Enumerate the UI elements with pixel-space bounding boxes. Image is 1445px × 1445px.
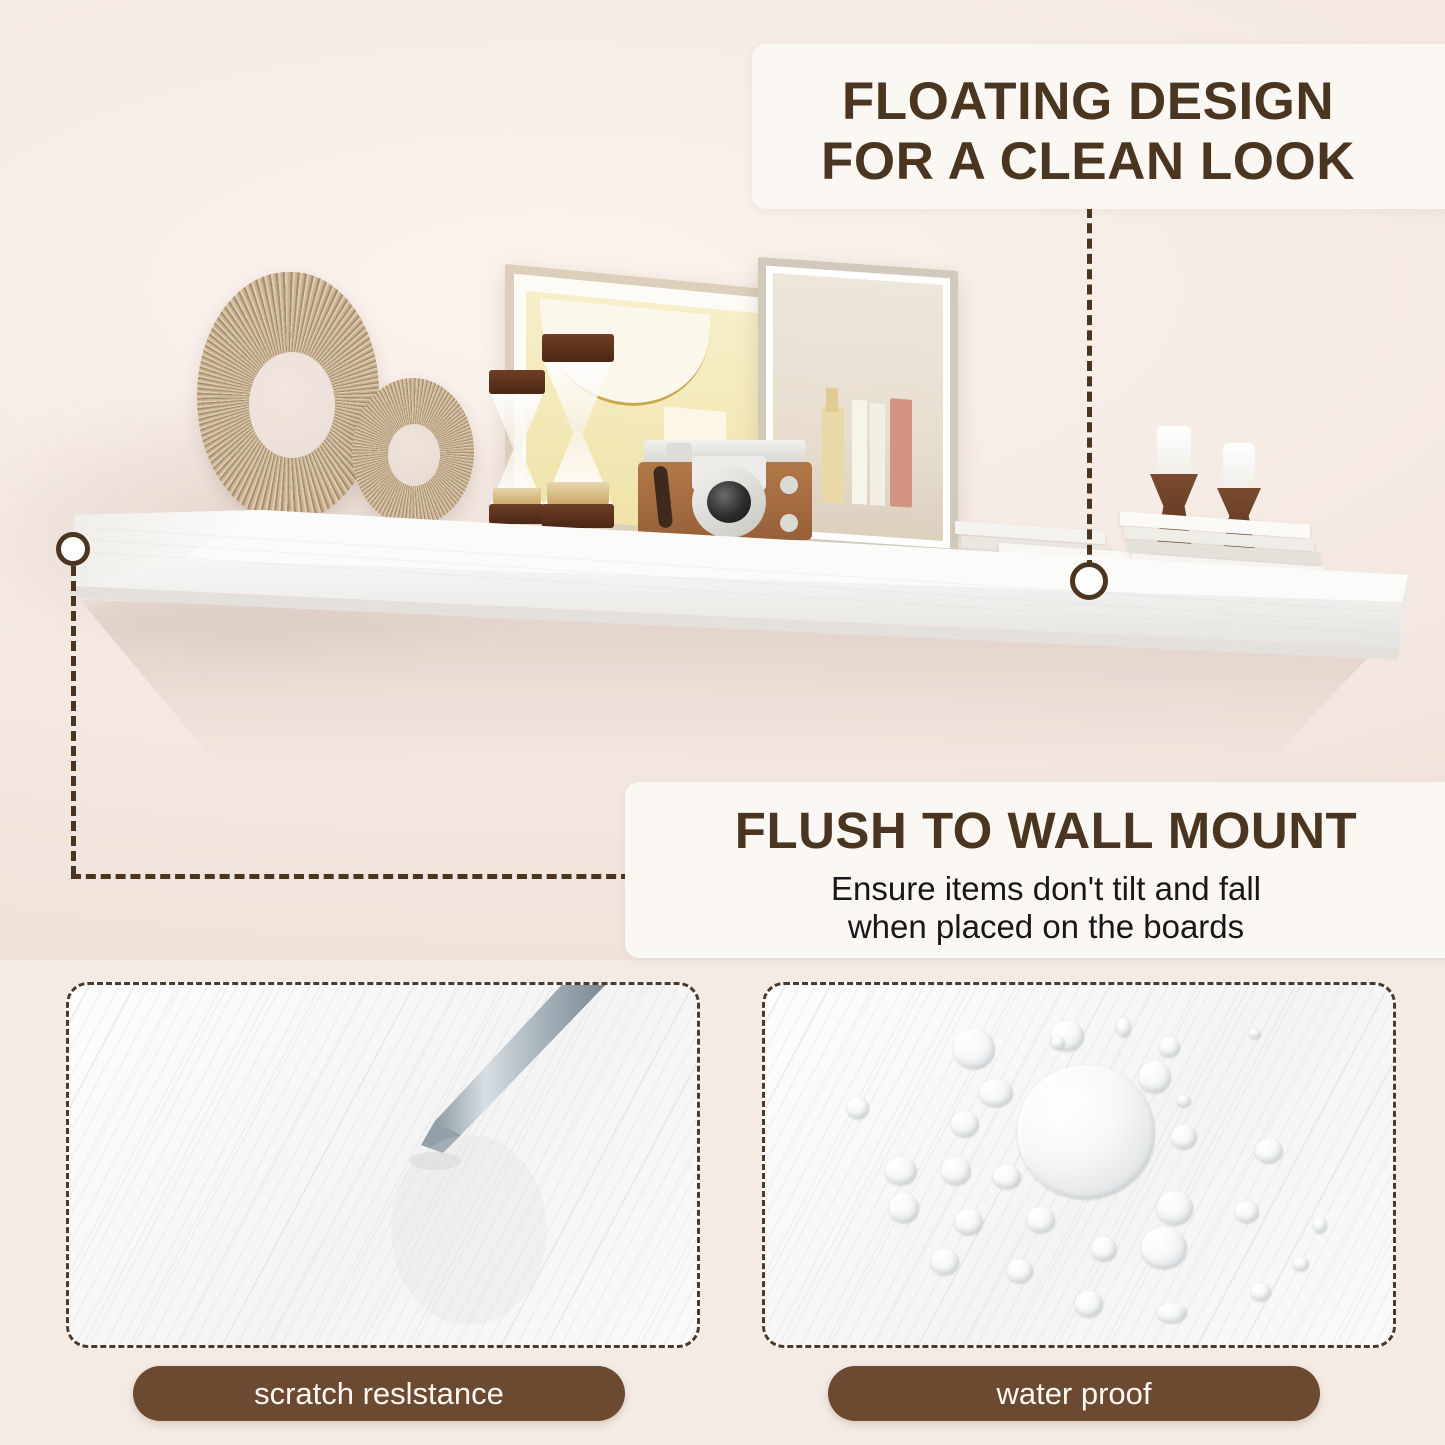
panel-water-proof	[762, 982, 1396, 1348]
water-droplet	[931, 1249, 959, 1275]
water-droplet	[941, 1157, 971, 1185]
water-droplet	[1251, 1283, 1271, 1301]
water-droplet	[889, 1193, 919, 1223]
callout-floating-design: FLOATING DESIGN FOR A CLEAN LOOK	[752, 44, 1445, 209]
water-droplet	[1091, 1237, 1117, 1261]
pill-scratch-resistance[interactable]: scratch reslstance	[133, 1366, 625, 1421]
leader-line-horizontal	[71, 874, 631, 879]
water-droplet	[1235, 1201, 1259, 1223]
water-droplet	[1075, 1291, 1103, 1317]
water-droplet	[1293, 1257, 1309, 1271]
water-droplet	[993, 1165, 1021, 1189]
leader-line-vertical-left	[71, 566, 76, 876]
water-droplet	[1139, 1061, 1171, 1093]
water-droplet	[1177, 1095, 1191, 1107]
pill-scratch-label: scratch reslstance	[254, 1376, 504, 1412]
water-droplet	[979, 1079, 1013, 1107]
pill-waterproof-label: water proof	[996, 1376, 1151, 1412]
water-droplet	[1141, 1227, 1187, 1269]
water-droplet	[1027, 1207, 1055, 1233]
screwdriver-icon	[69, 985, 697, 1345]
callout-flush-mount-title: FLUSH TO WALL MOUNT	[665, 804, 1427, 858]
water-droplet	[1157, 1303, 1187, 1323]
scratch-smudge	[391, 1135, 547, 1325]
water-droplet	[1171, 1125, 1197, 1149]
water-droplet-main	[1017, 1065, 1155, 1199]
marker-shelf-wall-joint	[1070, 562, 1108, 600]
waterproof-surface	[765, 985, 1393, 1345]
callout-flush-mount: FLUSH TO WALL MOUNT Ensure items don't t…	[625, 782, 1445, 958]
water-droplet	[953, 1029, 995, 1069]
water-droplet	[1249, 1029, 1261, 1039]
callout-floating-design-title-line1: FLOATING DESIGN	[752, 74, 1424, 130]
leader-line-vertical-top	[1087, 208, 1092, 570]
water-droplet	[955, 1209, 983, 1235]
water-droplet	[1051, 1037, 1065, 1049]
water-droplet	[1117, 1017, 1131, 1037]
water-droplet	[1255, 1139, 1283, 1163]
infographic-root: FLOATING DESIGN FOR A CLEAN LOOK FLUSH T…	[0, 0, 1445, 1445]
scratch-surface	[69, 985, 697, 1345]
water-droplet	[1313, 1217, 1327, 1233]
pill-water-proof[interactable]: water proof	[828, 1366, 1320, 1421]
callout-flush-mount-sub-line2: when placed on the boards	[665, 908, 1427, 946]
water-droplet	[951, 1111, 979, 1137]
water-droplet	[885, 1157, 917, 1185]
water-droplet	[1157, 1191, 1193, 1225]
water-droplet	[1159, 1037, 1180, 1057]
marker-shelf-left-edge	[56, 532, 90, 566]
panel-scratch-resistance	[66, 982, 700, 1348]
water-droplet	[1007, 1259, 1033, 1283]
callout-flush-mount-sub-line1: Ensure items don't tilt and fall	[665, 870, 1427, 908]
callout-floating-design-title-line2: FOR A CLEAN LOOK	[752, 134, 1424, 190]
water-droplet	[847, 1097, 869, 1119]
screwdriver-shaft	[435, 985, 615, 1135]
